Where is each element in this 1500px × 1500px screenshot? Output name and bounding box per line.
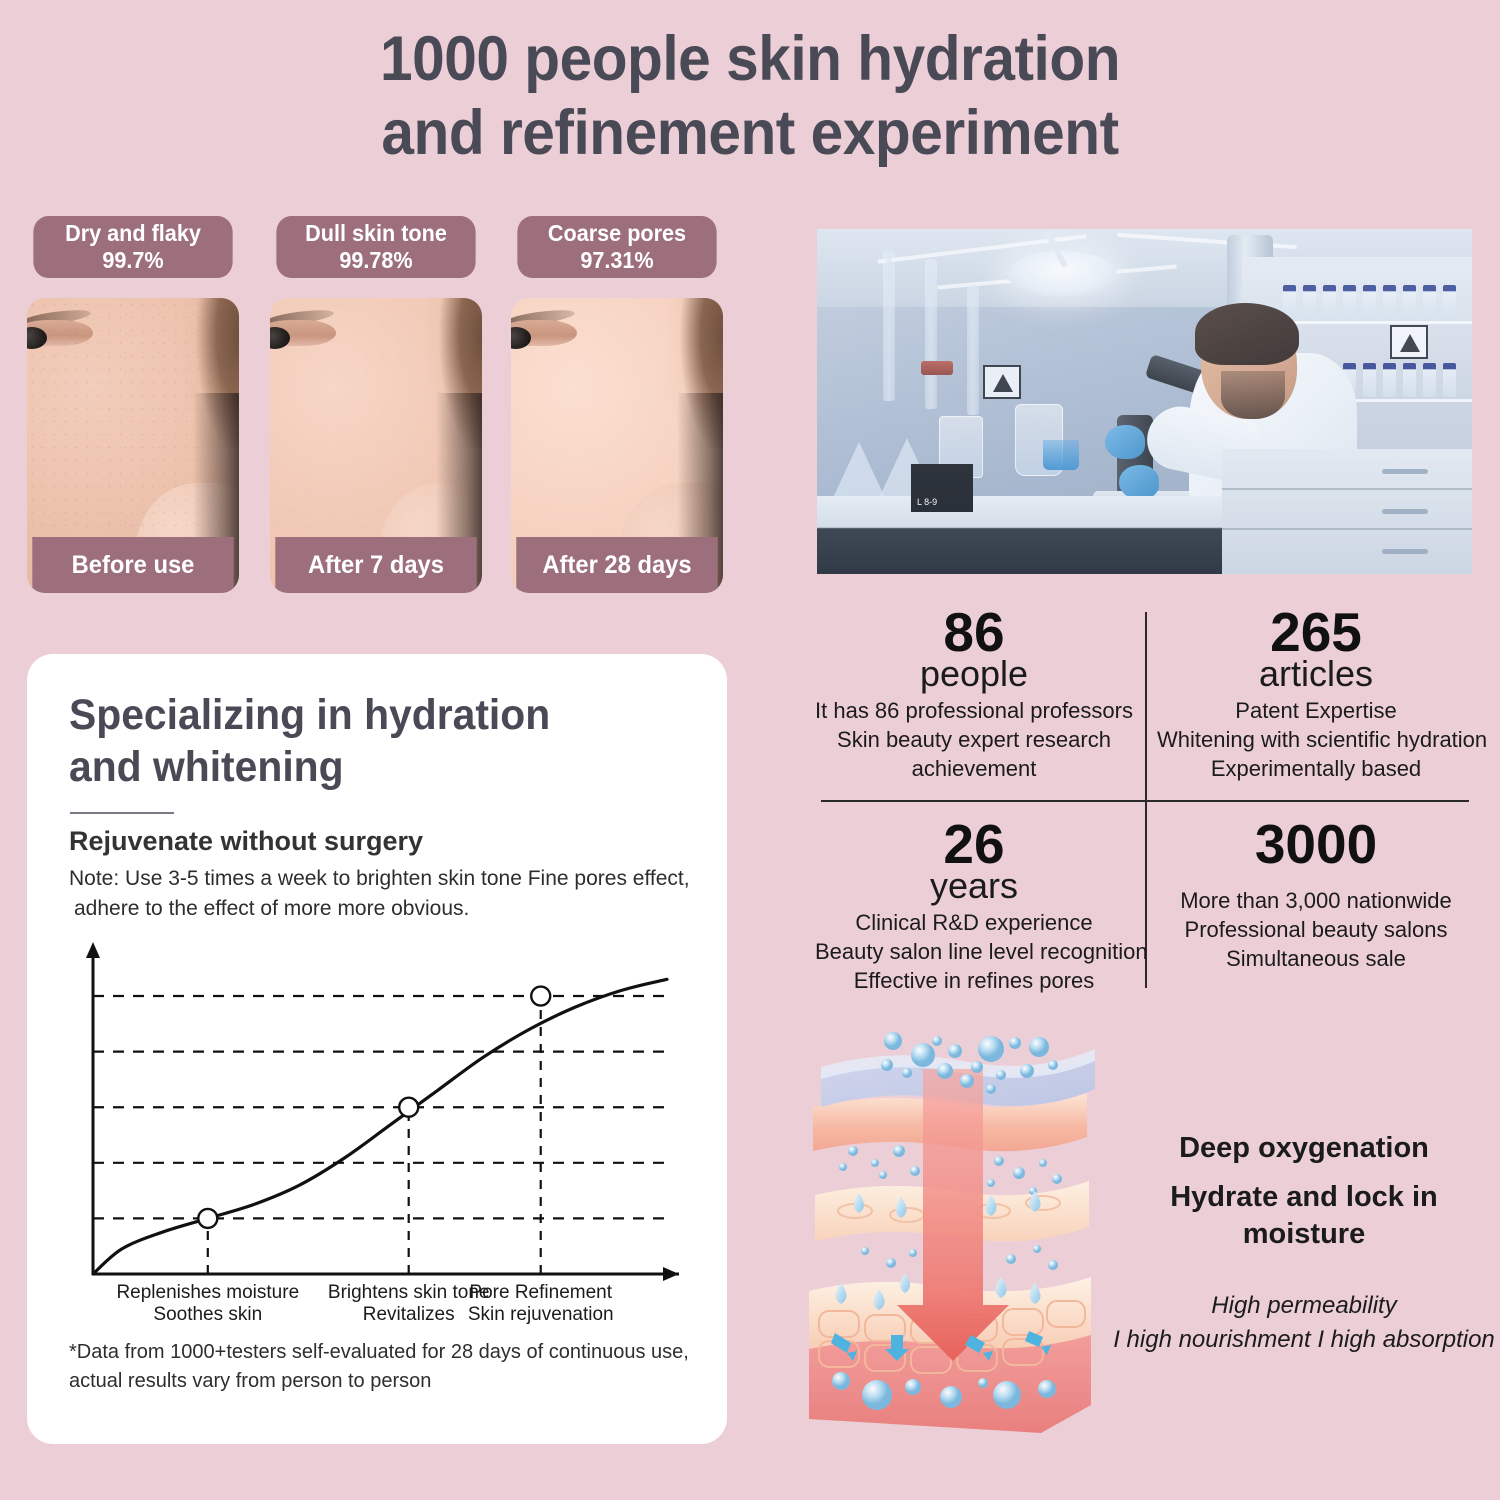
concern-badge: Dry and flaky 99.7% [33,216,232,278]
stat-unit: people [815,656,1133,692]
concern-percent: 99.7% [33,247,232,274]
benefit-heading-2-line-2: moisture [1243,1218,1365,1250]
stat-cell: 86 people It has 86 professional profess… [815,606,1133,783]
chart-svg: Replenishes moistureSoothes skinBrighten… [67,924,707,1344]
page-title-line-1: 1000 people skin hydration [53,22,1448,96]
panel-note-line-1: Note: Use 3-5 times a week to brighten s… [69,864,709,894]
panel-heading-line-1: Specializing in hydration [69,690,639,742]
panel-note: Note: Use 3-5 times a week to brighten s… [69,864,709,924]
stat-number: 26 [815,818,1133,872]
hydration-panel: Specializing in hydration and whitening … [27,654,727,1444]
concern-percent: 99.78% [276,247,475,274]
face-photo: Before use [27,298,239,593]
concern-badge: Dull skin tone 99.78% [276,216,475,278]
footnote-line-2: actual results vary from person to perso… [69,1367,699,1396]
benefits-text: Deep oxygenation Hydrate and lock in moi… [1110,1130,1498,1357]
stat-cell: 26 years Clinical R&D experience Beauty … [815,818,1133,995]
benefit-italic-line-1: High permeability [1110,1289,1498,1323]
benefit-heading-2-line-1: Hydrate and lock in [1170,1181,1438,1213]
concern-percent: 97.31% [517,247,716,274]
comparison-card: Dull skin tone 99.78% After 7 days [270,216,482,278]
skin-cross-section-diagram [795,1015,1105,1445]
concern-label: Dry and flaky [33,220,232,247]
chart-marker [531,987,550,1006]
stat-description: It has 86 professional professors Skin b… [815,696,1133,783]
benefit-heading-1: Deep oxygenation [1110,1130,1498,1167]
benefit-italic-line-2: I high nourishment I high absorption [1110,1323,1498,1357]
panel-heading-line-2: and whitening [69,742,639,794]
comparison-card: Coarse pores 97.31% After 28 days [511,216,723,278]
photo-caption: Before use [32,537,233,593]
panel-subheading: Rejuvenate without surgery [69,826,423,857]
stat-unit: articles [1157,656,1475,692]
footnote-line-1: *Data from 1000+testers self-evaluated f… [69,1338,699,1367]
stat-number: 86 [815,606,1133,660]
chart-tick-label: Replenishes moistureSoothes skin [116,1282,299,1325]
page-title: 1000 people skin hydration and refinemen… [53,22,1448,171]
laboratory-photo: L 8-9 [817,229,1472,574]
stat-description: More than 3,000 nationwide Professional … [1157,886,1475,973]
stat-description: Patent Expertise Whitening with scientif… [1157,696,1475,783]
chart-tick-label: Brightens skin toneRevitalizes [328,1282,490,1325]
concern-label: Coarse pores [517,220,716,247]
stat-cell: 3000 More than 3,000 nationwide Professi… [1157,818,1475,973]
comparison-cards: Dry and flaky 99.7% Before use Dull skin… [27,216,745,598]
x-axis-arrow [663,1267,679,1281]
comparison-card: Dry and flaky 99.7% Before use [27,216,239,278]
face-photo: After 7 days [270,298,482,593]
chart-marker [198,1209,217,1228]
chart-gridlines [93,996,667,1218]
benefit-heading-2: Hydrate and lock in moisture [1110,1179,1498,1253]
skin-diagram-svg [795,1015,1105,1445]
photo-caption: After 7 days [275,537,476,593]
progression-chart: Replenishes moistureSoothes skinBrighten… [67,924,707,1344]
photo-caption: After 28 days [516,537,717,593]
chart-curve [93,979,667,1274]
grid-horizontal-divider [821,800,1469,802]
chart-marker [399,1098,418,1117]
panel-note-line-2: adhere to the effect of more more obviou… [69,894,709,924]
panel-heading: Specializing in hydration and whitening [69,690,639,793]
stat-number: 3000 [1157,818,1475,872]
concern-badge: Coarse pores 97.31% [517,216,716,278]
y-axis-arrow [86,942,100,958]
face-photo: After 28 days [511,298,723,593]
concern-label: Dull skin tone [276,220,475,247]
benefit-italic-text: High permeability I high nourishment I h… [1110,1289,1498,1357]
chart-tick-label: Pore RefinementSkin rejuvenation [468,1282,614,1325]
stat-cell: 265 articles Patent Expertise Whitening … [1157,606,1475,783]
stat-description: Clinical R&D experience Beauty salon lin… [815,908,1133,995]
chart-tick-labels: Replenishes moistureSoothes skinBrighten… [116,1282,613,1325]
statistics-grid: 86 people It has 86 professional profess… [815,600,1475,1000]
divider [70,812,174,814]
stat-unit: years [815,868,1133,904]
page-title-line-2: and refinement experiment [53,96,1448,170]
stat-number: 265 [1157,606,1475,660]
panel-footnote: *Data from 1000+testers self-evaluated f… [69,1338,699,1396]
